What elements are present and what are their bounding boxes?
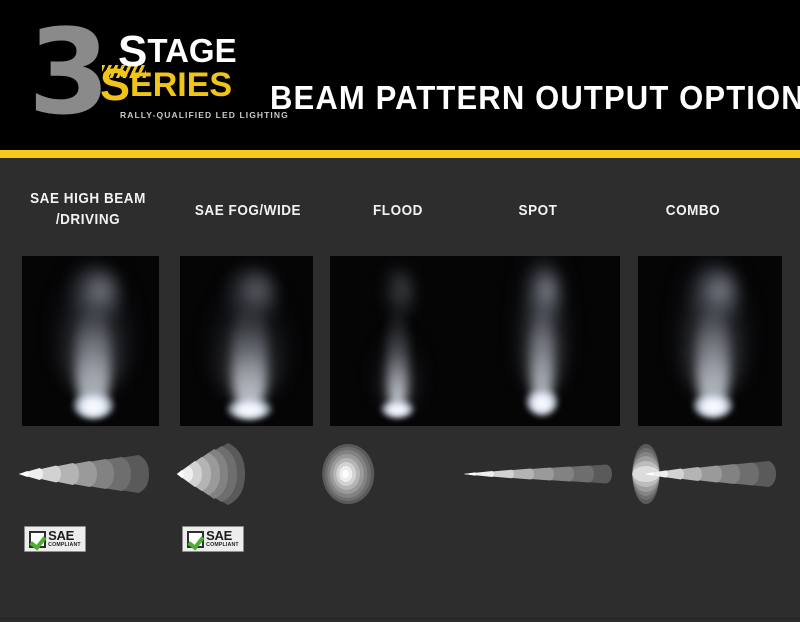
beam-photo-3 <box>330 256 460 426</box>
logo-stage-text: STAGE <box>118 34 237 68</box>
badge-sub: COMPLIANT <box>48 543 81 548</box>
content-area: SAE HIGH BEAM /DRIVING SAECOMPLIANTSAE F… <box>0 158 800 622</box>
header-bar: 3 STAGE SERIES RALLY-QUALIFIED LED LIGHT… <box>0 0 800 150</box>
beam-hot-spot <box>381 400 415 419</box>
column-label-combo: COMBO <box>626 200 761 221</box>
sae-compliant-badge: SAECOMPLIANT <box>182 526 244 552</box>
check-icon <box>29 531 46 548</box>
sae-compliant-badge: SAECOMPLIANT <box>24 526 86 552</box>
beam-foliage-flare <box>382 266 414 324</box>
column-label-sae-high-beam-driving: SAE HIGH BEAM /DRIVING <box>16 188 160 230</box>
badge-mark: SAE <box>206 529 239 542</box>
page-title: BEAM PATTERN OUTPUT OPTIONS <box>270 76 754 120</box>
bottom-edge-line <box>0 618 800 619</box>
beam-photo-5 <box>638 256 782 426</box>
beam-spread-diagram-1 <box>11 443 171 505</box>
beam-spread-diagram-2 <box>167 443 327 505</box>
beam-foliage-flare <box>223 266 277 324</box>
beam-spread-diagram-5 <box>630 443 790 505</box>
stage-series-logo: 3 STAGE SERIES RALLY-QUALIFIED LED LIGHT… <box>28 26 243 131</box>
badge-sub: COMPLIANT <box>206 543 239 548</box>
beam-photo-4 <box>458 256 620 426</box>
beam-foliage-flare <box>526 266 560 324</box>
badge-mark: SAE <box>48 529 81 542</box>
column-label-spot: SPOT <box>475 200 601 221</box>
logo-series-text: SERIES <box>100 68 232 102</box>
beam-foliage-flare <box>68 266 121 324</box>
beam-spread-diagram-3 <box>315 443 475 505</box>
check-icon <box>187 531 204 548</box>
beam-pattern-infographic: 3 STAGE SERIES RALLY-QUALIFIED LED LIGHT… <box>0 0 800 622</box>
beam-hot-spot <box>227 398 272 420</box>
beam-hot-spot <box>693 393 733 419</box>
beam-foliage-flare <box>689 266 739 324</box>
beam-hot-spot <box>73 392 114 419</box>
beam-photo-2 <box>180 256 313 426</box>
logo-wordmark: STAGE SERIES RALLY-QUALIFIED LED LIGHTIN… <box>96 34 246 130</box>
column-label-sae-fog-wide: SAE FOG/WIDE <box>176 200 320 221</box>
column-label-flood: FLOOD <box>335 200 461 221</box>
beam-hot-spot <box>526 389 558 415</box>
beam-photo-1 <box>22 256 159 426</box>
logo-tagline: RALLY-QUALIFIED LED LIGHTING <box>120 110 289 120</box>
accent-divider-bar <box>0 150 800 158</box>
beam-spread-diagram-4 <box>459 443 619 505</box>
